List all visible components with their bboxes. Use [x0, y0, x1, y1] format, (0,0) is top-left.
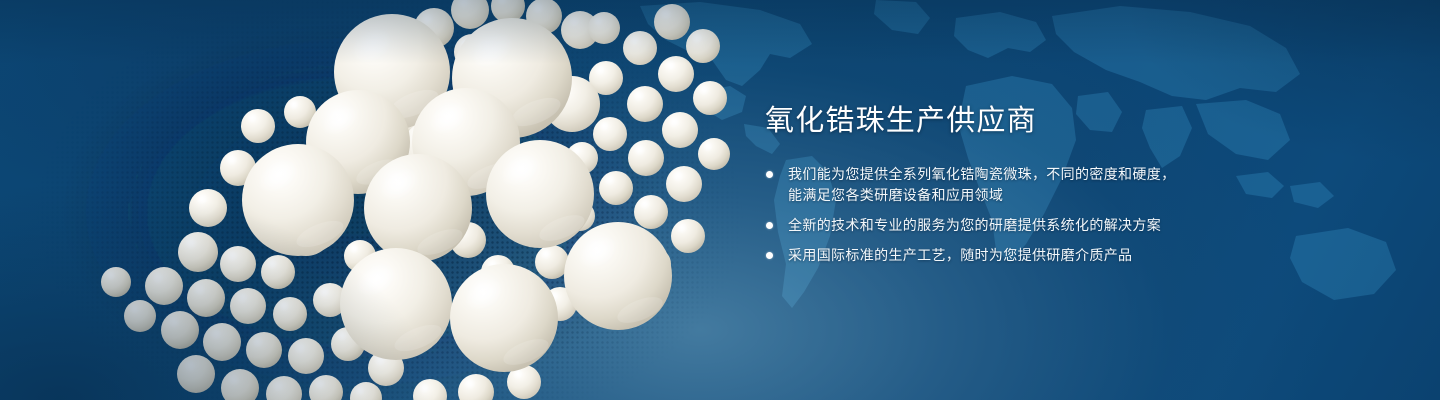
- benefit-list: 我们能为您提供全系列氧化锆陶瓷微珠，不同的密度和硬度， 能满足您各类研磨设备和应…: [765, 164, 1235, 266]
- bullet-dot-icon: [766, 222, 773, 229]
- banner-copy: 氧化锆珠生产供应商 我们能为您提供全系列氧化锆陶瓷微珠，不同的密度和硬度， 能满…: [765, 104, 1235, 266]
- benefit-item-3: 采用国际标准的生产工艺，随时为您提供研磨介质产品: [765, 245, 1235, 266]
- banner-headline: 氧化锆珠生产供应商: [765, 104, 1235, 138]
- benefit-item-3-line-1: 采用国际标准的生产工艺，随时为您提供研磨介质产品: [788, 247, 1132, 263]
- benefit-item-1-line-1: 我们能为您提供全系列氧化锆陶瓷微珠，不同的密度和硬度，: [788, 166, 1175, 182]
- bullet-dot-icon: [766, 171, 773, 178]
- benefit-item-1-line-2: 能满足您各类研磨设备和应用领域: [788, 185, 1235, 206]
- hero-banner: 氧化锆珠生产供应商 我们能为您提供全系列氧化锆陶瓷微珠，不同的密度和硬度， 能满…: [0, 0, 1440, 400]
- benefit-item-2: 全新的技术和专业的服务为您的研磨提供系统化的解决方案: [765, 215, 1235, 236]
- benefit-item-1: 我们能为您提供全系列氧化锆陶瓷微珠，不同的密度和硬度， 能满足您各类研磨设备和应…: [765, 164, 1235, 206]
- bullet-dot-icon: [766, 252, 773, 259]
- benefit-item-2-line-1: 全新的技术和专业的服务为您的研磨提供系统化的解决方案: [788, 217, 1161, 233]
